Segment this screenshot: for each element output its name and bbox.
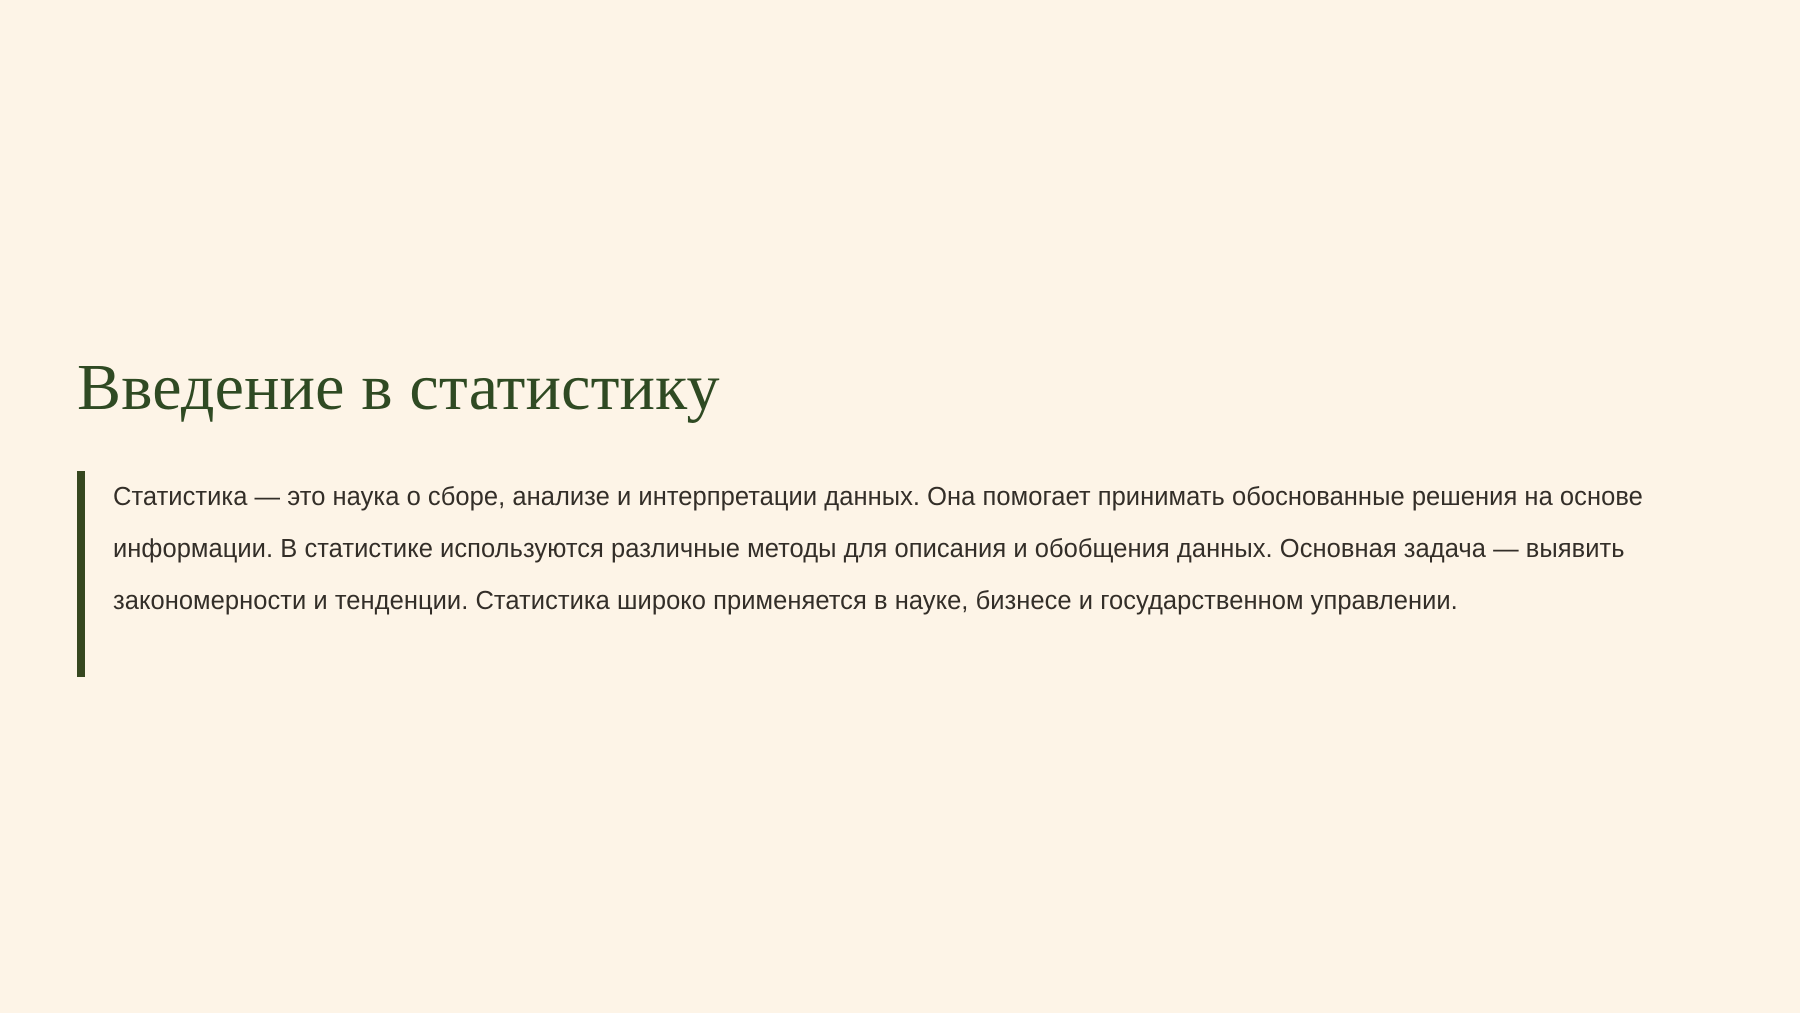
body-quote-block: Статистика — это наука о сборе, анализе … [77,471,1717,627]
accent-bar [77,471,85,677]
content-block: Введение в статистику Статистика — это н… [77,355,1717,627]
slide-canvas: Введение в статистику Статистика — это н… [0,0,1800,1013]
body-paragraph: Статистика — это наука о сборе, анализе … [113,471,1715,627]
page-title: Введение в статистику [77,355,1717,421]
